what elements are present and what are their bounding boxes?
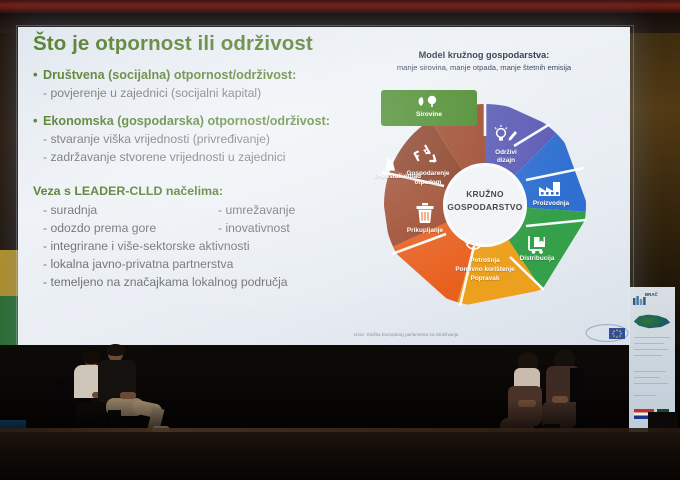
leader-item-3: - integrirane i više-sektorske aktivnost… xyxy=(33,239,363,253)
circular-economy-wheel: Sirovine Održividizajn Proizvodnja xyxy=(374,94,596,316)
factory-icon xyxy=(537,180,563,197)
leader-item-1: - suradnja xyxy=(33,203,363,217)
segment-label-residual-waste: Preostali otpad xyxy=(366,173,430,181)
bullet-head-social: Društvena (socijalna) otpornost/održivos… xyxy=(33,68,363,82)
center-line-1: KRUŽNO xyxy=(466,189,504,199)
eu-emblem-logo xyxy=(584,320,630,346)
banner-brand-text: BRAČ xyxy=(645,292,658,297)
segment-label-consumption: PotrošnjaPonovno korištenjePopravak xyxy=(436,256,534,283)
diagram-source: Izvor: Služba Europskog parlamenta za is… xyxy=(354,332,594,337)
ceiling-red-band xyxy=(0,0,680,14)
segment-label-production: Proizvodnja xyxy=(522,200,580,208)
chair-2-back xyxy=(570,368,584,402)
leader-item-2: - odozdo prema gore xyxy=(33,221,363,235)
leader-item-6: - umrežavanje xyxy=(208,203,295,217)
diagram-title: Model kružnog gospodarstva: xyxy=(352,50,616,60)
slide-title: Što je otpornost ili održivost xyxy=(33,32,363,56)
diagram-subtitle: manje sirovina, manje otpada, manje štet… xyxy=(352,63,616,72)
segment-label-raw-materials: Sirovine xyxy=(381,111,477,118)
leader-principles-right-column: - umrežavanje - inovativnost xyxy=(208,203,295,239)
leader-item-5: - temeljeno na značajkama lokalnog podru… xyxy=(33,275,363,289)
recycle-icon xyxy=(412,142,438,164)
circular-economy-diagram: Model kružnog gospodarstva: manje sirovi… xyxy=(352,44,616,344)
leaf-tree-icon xyxy=(416,95,442,108)
bullet-sub-economic-2: - zadržavanje stvorene vrijednosti u zaj… xyxy=(33,150,363,164)
segment-label-collection: Prikupljanje xyxy=(396,227,454,235)
lightbulb-pencil-icon xyxy=(492,124,518,144)
center-line-2: GOSPODARSTVO xyxy=(447,202,522,212)
segment-raw-materials: Sirovine xyxy=(381,90,477,126)
stage-front-face xyxy=(0,432,680,480)
banner-logo-icon xyxy=(633,296,647,305)
bullet-head-economic: Ekonomska (gospodarska) otpornost/održiv… xyxy=(33,114,363,128)
wheel-center-hub: KRUŽNO GOSPODARSTVO xyxy=(446,166,524,244)
conference-photo: Što je otpornost ili održivost Društvena… xyxy=(0,0,680,480)
leader-item-4: - lokalna javno-privatna partnerstva xyxy=(33,257,363,271)
leader-item-7: - inovativnost xyxy=(208,221,295,235)
slide-bullet-list: Društvena (socijalna) otpornost/održivos… xyxy=(33,68,363,293)
wheel-center-label: KRUŽNO GOSPODARSTVO xyxy=(446,188,524,214)
bullet-sub-economic-1: - stvaranje viška vrijednosti (privređiv… xyxy=(33,132,363,146)
waste-bag-icon xyxy=(382,156,398,172)
island-map-graphic xyxy=(633,311,671,331)
trash-bin-icon xyxy=(415,202,435,224)
section-head-leader: Veza s LEADER-CLLD načelima: xyxy=(33,184,363,198)
segment-label-design: Održividizajn xyxy=(477,149,535,165)
delivery-cart-icon xyxy=(526,234,552,254)
leader-principles-columns: - suradnja - odozdo prema gore - integri… xyxy=(33,203,363,289)
bullet-sub-social-1: - povjerenje u zajednici (socijalni kapi… xyxy=(33,86,363,100)
